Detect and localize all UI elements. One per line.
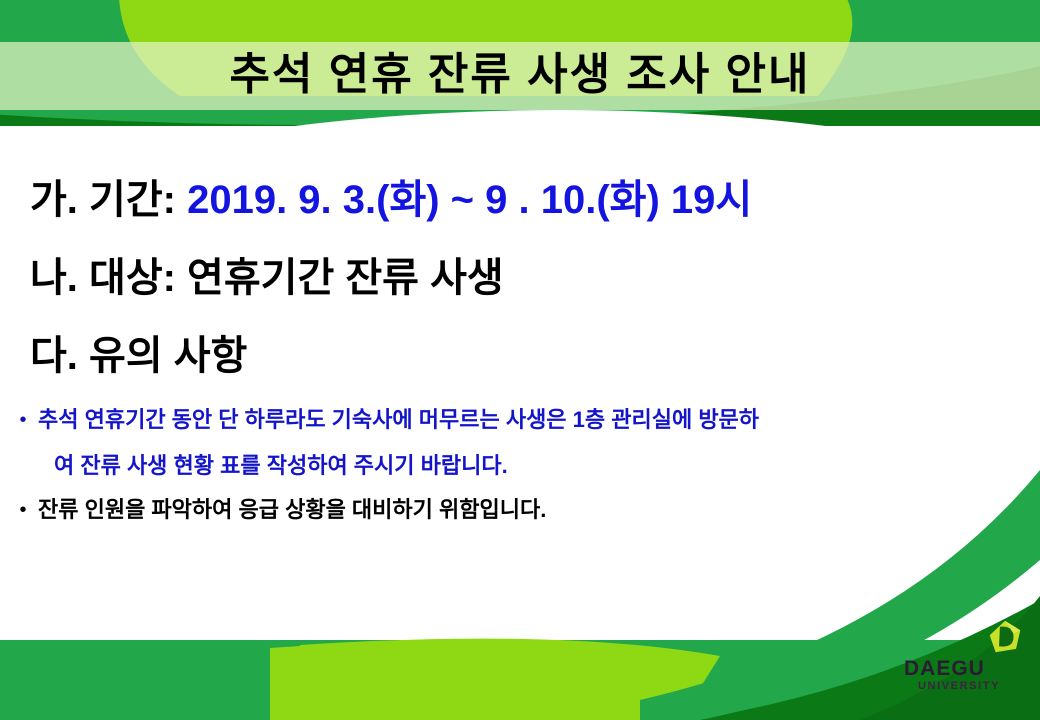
- period-label: 가. 기간:: [30, 178, 176, 222]
- list-item: • 잔류 인원을 파악하여 응급 상황을 대비하기 위함입니다.: [8, 488, 1040, 532]
- content-line-period: 가. 기간: 2019. 9. 3.(화) ~ 9 . 10.(화) 19시: [0, 180, 1040, 220]
- list-item: • 추석 연휴기간 동안 단 하루라도 기숙사에 머무르는 사생은 1층 관리실…: [8, 398, 1040, 442]
- page-title: 추석 연휴 잔류 사생 조사 안내: [230, 53, 811, 97]
- title-area: 추석 연휴 잔류 사생 조사 안내: [0, 36, 1040, 114]
- university-logo: DAEGU UNIVERSITY: [904, 620, 1024, 694]
- bullet-list: • 추석 연휴기간 동안 단 하루라도 기숙사에 머무르는 사생은 1층 관리실…: [0, 398, 1040, 532]
- period-value: 2019. 9. 3.(화) ~ 9 . 10.(화) 19시: [187, 178, 752, 222]
- slide-canvas: 추석 연휴 잔류 사생 조사 안내 가. 기간: 2019. 9. 3.(화) …: [0, 0, 1040, 720]
- logo-subtitle: UNIVERSITY: [904, 681, 1024, 692]
- logo-wordmark: DAEGU UNIVERSITY: [904, 658, 1024, 692]
- target-label: 나. 대상: 연휴기간 잔류 사생: [30, 256, 504, 300]
- body-content: 가. 기간: 2019. 9. 3.(화) ~ 9 . 10.(화) 19시 나…: [0, 180, 1040, 534]
- logo-name: DAEGU: [904, 658, 1024, 679]
- content-line-target: 나. 대상: 연휴기간 잔류 사생: [0, 258, 1040, 298]
- bullet-text-continuation: 여 잔류 사생 현황 표를 작성하여 주시기 바랍니다.: [8, 444, 1040, 488]
- bullet-text-secondary: 잔류 인원을 파악하여 응급 상황을 대비하기 위함입니다.: [38, 488, 546, 532]
- bullet-dot-icon: •: [8, 398, 38, 442]
- daegu-diamond-icon: [988, 620, 1022, 654]
- bullet-dot-icon: •: [8, 488, 38, 532]
- notes-label: 다. 유의 사항: [30, 334, 247, 378]
- bullet-text-primary: 추석 연휴기간 동안 단 하루라도 기숙사에 머무르는 사생은 1층 관리실에 …: [38, 398, 759, 442]
- content-line-notes-heading: 다. 유의 사항: [0, 336, 1040, 376]
